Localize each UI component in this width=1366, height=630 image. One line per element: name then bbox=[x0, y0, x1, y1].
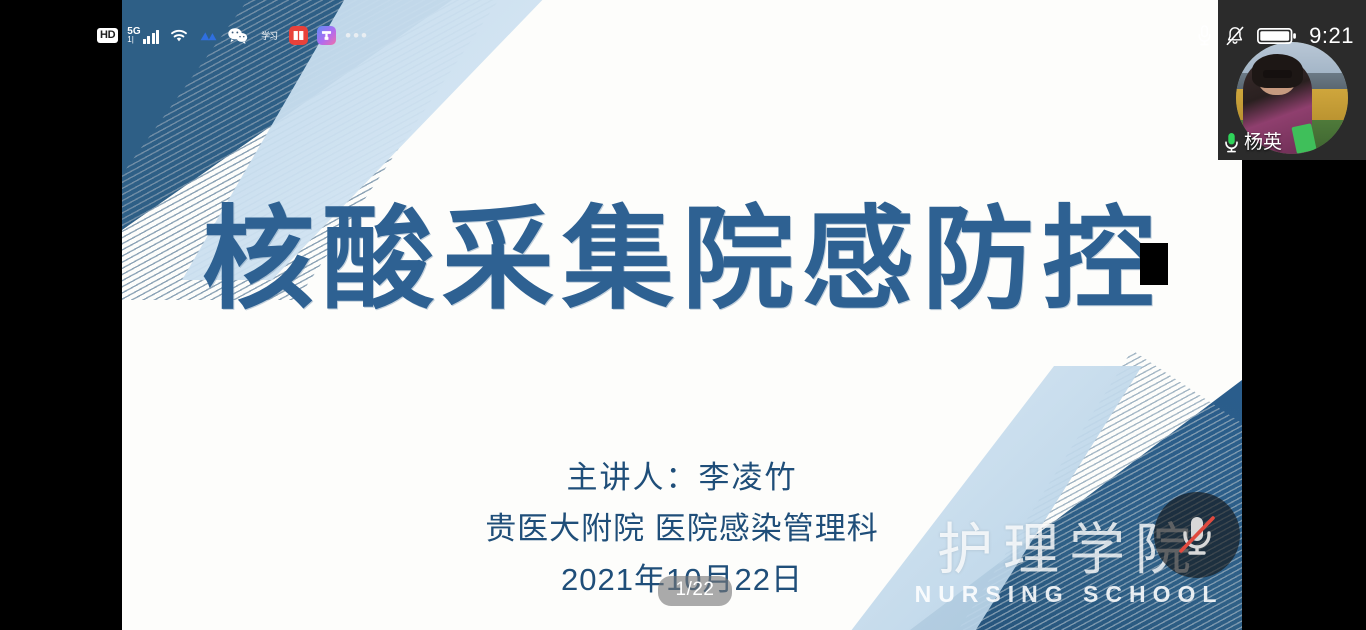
app-icon-book[interactable] bbox=[289, 26, 308, 45]
signal-bars-icon bbox=[143, 29, 160, 44]
microphone-active-icon[interactable] bbox=[1223, 131, 1240, 154]
brush-glyph-icon bbox=[320, 29, 333, 42]
slide-title: 核酸采集院感防控 bbox=[122, 198, 1242, 321]
signal-5g-icon: 5G 1| bbox=[127, 28, 159, 44]
book-glyph-icon bbox=[292, 29, 305, 42]
signal-5g-sublabel: 1| bbox=[127, 36, 134, 44]
text-cursor-caret bbox=[1140, 243, 1168, 285]
app-icon-xuexi[interactable]: 学习 bbox=[258, 26, 280, 45]
slide-affiliation-line: 贵医大附院 医院感染管理科 bbox=[122, 503, 1242, 548]
hd-badge-icon: HD bbox=[97, 28, 118, 42]
mute-overlay-badge[interactable] bbox=[1154, 492, 1240, 578]
status-bar-clock: 9:21 bbox=[1309, 25, 1354, 47]
presentation-slide[interactable]: 护理学院 NURSING SCHOOL 核酸采集院感防控 主讲人：李凌竹 贵医大… bbox=[122, 0, 1242, 630]
app-icon-mountain[interactable] bbox=[199, 28, 218, 43]
battery-icon bbox=[1257, 25, 1297, 47]
status-bar-right-icons: 9:21 bbox=[1196, 24, 1354, 47]
microphone-icon bbox=[1196, 24, 1213, 47]
app-icon-brush[interactable] bbox=[317, 26, 336, 45]
participant-name: 杨英 bbox=[1244, 133, 1282, 152]
screen-root: 护理学院 NURSING SCHOOL 核酸采集院感防控 主讲人：李凌竹 贵医大… bbox=[0, 0, 1366, 630]
avatar-sunglasses bbox=[1263, 70, 1292, 78]
status-bar-left-icons: HD 5G 1| bbox=[97, 26, 369, 45]
wifi-icon bbox=[168, 27, 190, 44]
participant-name-row: 杨英 bbox=[1223, 131, 1282, 154]
slide-presenter-line: 主讲人：李凌竹 bbox=[122, 452, 1242, 497]
microphone-muted-icon bbox=[1173, 511, 1221, 559]
bell-muted-icon bbox=[1225, 25, 1245, 47]
app-icon-wechat[interactable] bbox=[227, 26, 249, 45]
page-indicator[interactable]: 1/22 bbox=[658, 576, 732, 606]
status-overflow-icon[interactable]: ••• bbox=[345, 32, 369, 40]
